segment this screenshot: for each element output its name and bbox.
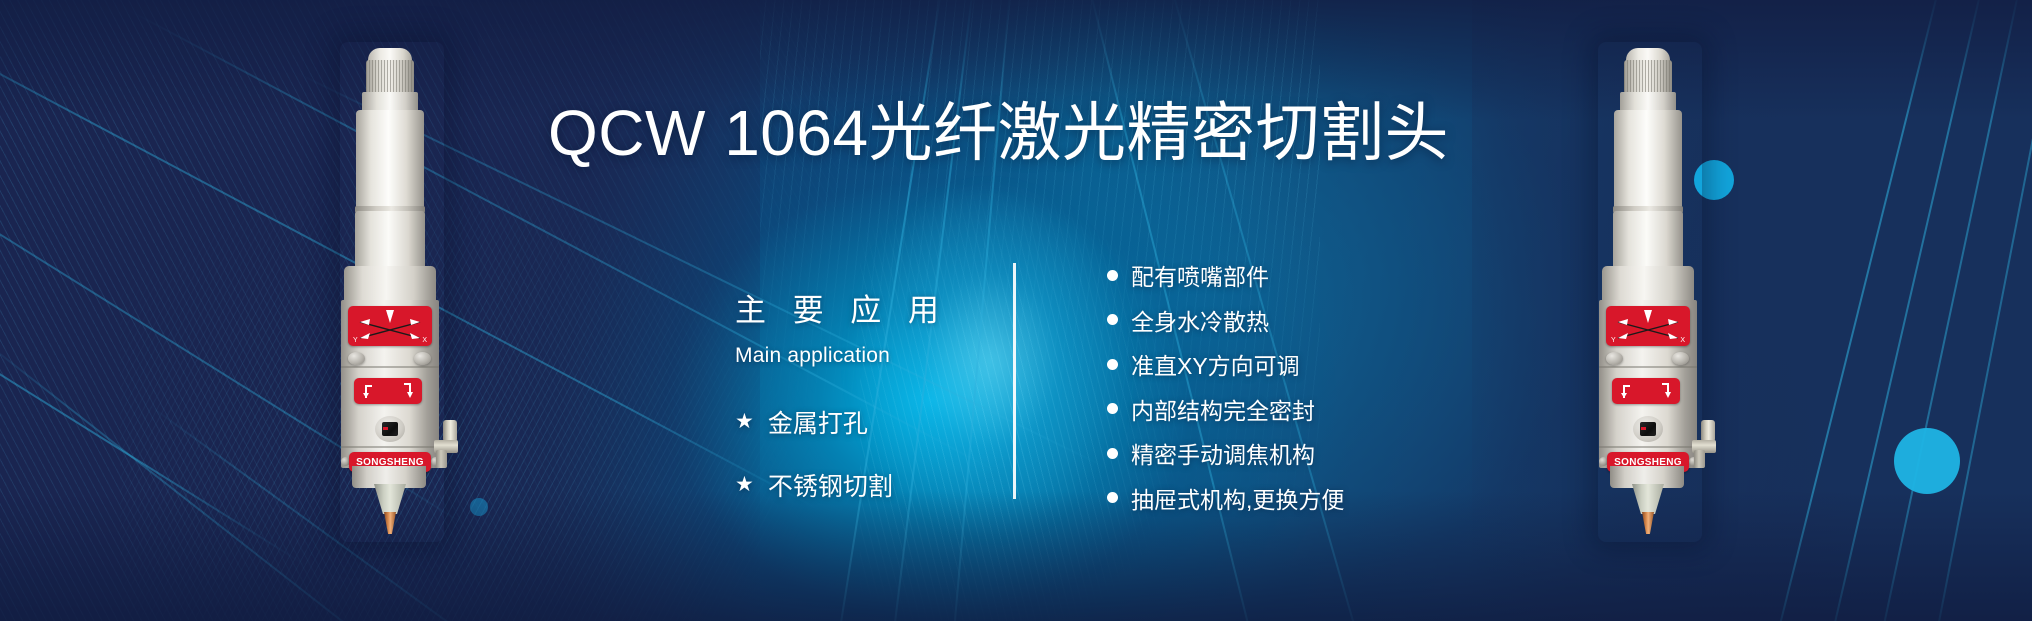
- feature-list: 配有喷嘴部件 全身水冷散热 准直XY方向可调 内部结构完全密封 精密手动调焦机构…: [1107, 258, 1527, 525]
- fitting-vertical: [1701, 420, 1715, 442]
- bullet-dot-icon: [1107, 270, 1118, 281]
- list-item: 内部结构完全密封: [1107, 392, 1527, 426]
- star-icon: ★: [735, 411, 754, 432]
- background-bottom-vignette: [0, 491, 2032, 621]
- feature-label: 精密手动调焦机构: [1131, 436, 1315, 470]
- list-item: 抽屉式机构,更换方便: [1107, 481, 1527, 515]
- body-seam-lower: [341, 446, 439, 448]
- adjust-knob-right: [1672, 352, 1689, 365]
- bullet-dot-icon: [1107, 314, 1118, 325]
- direction-arrows-label: [1612, 378, 1680, 404]
- list-item: 全身水冷散热: [1107, 303, 1527, 337]
- list-item: 配有喷嘴部件: [1107, 258, 1527, 292]
- body-seam-lower: [1599, 446, 1697, 448]
- down-arrow-icon: [1644, 310, 1652, 323]
- feature-label: 内部结构完全密封: [1131, 392, 1315, 426]
- sight-indicator-dot: [383, 427, 388, 430]
- accent-circle-bottom-right: [1894, 428, 1960, 494]
- axis-label-x: X: [422, 337, 427, 344]
- bullet-dot-icon: [1107, 492, 1118, 503]
- list-item: 精密手动调焦机构: [1107, 436, 1527, 470]
- application-list: ★ 金属打孔 ★ 不锈钢切割: [735, 404, 975, 503]
- application-label: 金属打孔: [768, 404, 868, 440]
- feature-label: 配有喷嘴部件: [1131, 258, 1269, 292]
- main-application-heading-cn: 主 要 应 用: [735, 292, 975, 331]
- body-seam-upper: [1599, 366, 1697, 368]
- axis-label-y: Y: [1611, 337, 1616, 344]
- xy-adjust-label: Y X: [1606, 306, 1690, 346]
- adjust-knob-right: [414, 352, 431, 365]
- upper-tube: [356, 110, 424, 210]
- knurled-collar: [1624, 60, 1672, 94]
- xy-adjust-label: Y X: [348, 306, 432, 346]
- fitting-stem: [1694, 450, 1705, 468]
- air-fitting: [1692, 420, 1716, 468]
- main-application-block: 主 要 应 用 Main application ★ 金属打孔 ★ 不锈钢切割: [735, 292, 975, 530]
- sight-indicator-dot: [1641, 427, 1646, 430]
- down-arrow-icon: [386, 310, 394, 323]
- axis-label-y: Y: [353, 337, 358, 344]
- bullet-dot-icon: [1107, 448, 1118, 459]
- list-item: ★ 金属打孔: [735, 404, 975, 440]
- application-label: 不锈钢切割: [768, 467, 893, 503]
- bullet-dot-icon: [1107, 403, 1118, 414]
- product-banner: Y X SONGSHENG: [0, 0, 2032, 621]
- drawer-arrows-icon: [354, 378, 422, 404]
- list-item: 准直XY方向可调: [1107, 347, 1527, 381]
- vertical-divider: [1013, 263, 1016, 499]
- feature-label: 抽屉式机构,更换方便: [1131, 481, 1344, 515]
- upper-neck: [362, 92, 418, 112]
- feature-label: 全身水冷散热: [1131, 303, 1269, 337]
- adjust-knob-left: [348, 352, 365, 365]
- lower-tube: [1613, 211, 1683, 269]
- bullet-dot-icon: [1107, 359, 1118, 370]
- adjust-knob-left: [1606, 352, 1623, 365]
- feature-label: 准直XY方向可调: [1131, 347, 1300, 381]
- fitting-vertical: [443, 420, 457, 442]
- direction-arrows-label: [354, 378, 422, 404]
- axis-label-x: X: [1680, 337, 1685, 344]
- lower-tube: [355, 211, 425, 269]
- star-icon: ★: [735, 474, 754, 495]
- main-application-heading-en: Main application: [735, 344, 975, 368]
- banner-title: QCW 1064光纤激光精密切割头: [548, 99, 1648, 168]
- knurled-collar: [366, 60, 414, 94]
- fitting-stem: [436, 450, 447, 468]
- list-item: ★ 不锈钢切割: [735, 467, 975, 503]
- drawer-arrows-icon: [1612, 378, 1680, 404]
- air-fitting: [434, 420, 458, 468]
- body-seam-upper: [341, 366, 439, 368]
